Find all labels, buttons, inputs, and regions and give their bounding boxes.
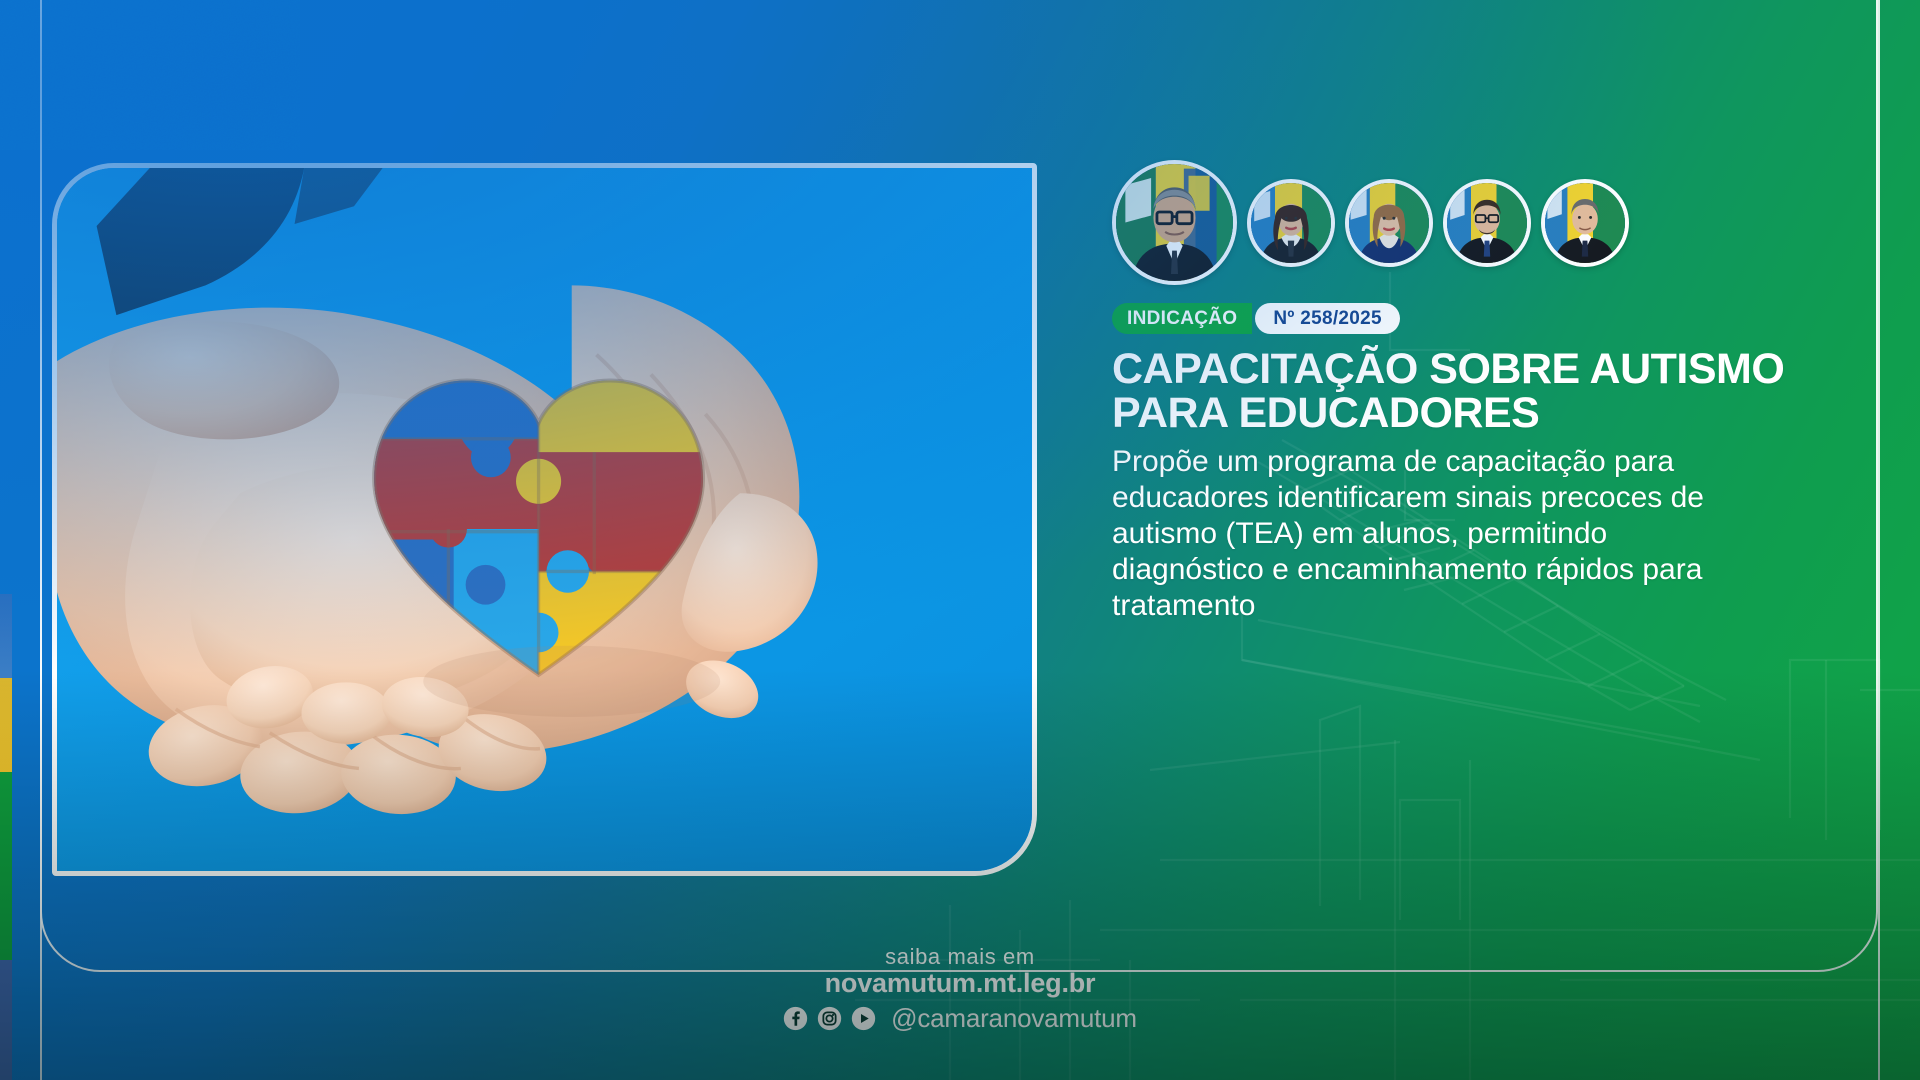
avatar-councillor-2[interactable] — [1247, 179, 1335, 267]
footer: saiba mais em novamutum.mt.leg.br @camar… — [0, 944, 1920, 1034]
left-rule-line — [40, 0, 42, 1080]
right-rule-line — [1878, 0, 1880, 1080]
portrait-4 — [1447, 183, 1527, 263]
instagram-icon[interactable] — [817, 1006, 842, 1031]
noise-grain — [0, 0, 300, 150]
facebook-icon[interactable] — [783, 1006, 808, 1031]
content-column: INDICAÇÃO Nº 258/2025 CAPACITAÇÃO SOBRE … — [1112, 160, 1812, 624]
footer-prefix: saiba mais em — [0, 944, 1920, 970]
portrait-1 — [1116, 164, 1233, 281]
portrait-2 — [1251, 183, 1331, 263]
footer-social-row: @camaranovamutum — [0, 1003, 1920, 1034]
status-badge-type: INDICAÇÃO — [1112, 303, 1252, 334]
badge-row: INDICAÇÃO Nº 258/2025 — [1112, 303, 1812, 334]
edge-strip-green — [0, 772, 12, 960]
avatar-councillor-4[interactable] — [1443, 179, 1531, 267]
autism-puzzle-heart-in-hands-photo — [57, 168, 1032, 871]
councillor-avatars — [1112, 160, 1812, 285]
avatar-councillor-1[interactable] — [1112, 160, 1237, 285]
page-description: Propõe um programa de capacitação para e… — [1112, 444, 1712, 624]
portrait-3 — [1349, 183, 1429, 263]
footer-social-handle[interactable]: @camaranovamutum — [891, 1003, 1137, 1034]
footer-website-url[interactable]: novamutum.mt.leg.br — [0, 968, 1920, 999]
portrait-5 — [1545, 183, 1625, 263]
status-badge-number: Nº 258/2025 — [1255, 303, 1400, 334]
edge-strip-yellow — [0, 678, 12, 772]
youtube-icon[interactable] — [851, 1006, 876, 1031]
poster-canvas: INDICAÇÃO Nº 258/2025 CAPACITAÇÃO SOBRE … — [0, 0, 1920, 1080]
feature-photo-card — [52, 163, 1037, 876]
avatar-councillor-3[interactable] — [1345, 179, 1433, 267]
page-title: CAPACITAÇÃO SOBRE AUTISMO PARA EDUCADORE… — [1112, 348, 1812, 436]
avatar-councillor-5[interactable] — [1541, 179, 1629, 267]
edge-strip-blue — [0, 594, 12, 678]
